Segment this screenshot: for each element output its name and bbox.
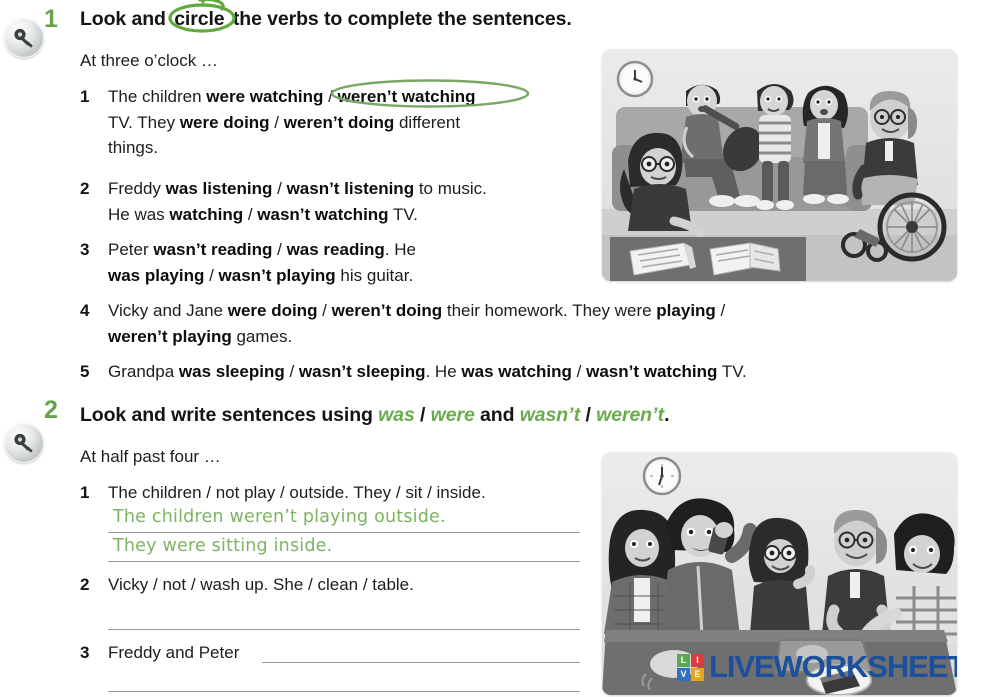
exercise-2-item-1: 1 The children / not play / outside. The…	[80, 480, 600, 506]
selected-answer-highlight: weren’t watching	[338, 84, 476, 110]
exercise-1-item-2: 2 Freddy was listening / wasn’t listenin…	[80, 176, 605, 227]
exercise-1-item-5: 5 Grandpa was sleeping / wasn’t sleeping…	[80, 359, 970, 385]
item-number: 1	[80, 480, 96, 506]
verb-option-b[interactable]: wasn’t listening	[287, 179, 415, 198]
option-separator: /	[285, 362, 299, 381]
item-text: TV.	[717, 362, 746, 381]
item-text: TV. They	[108, 113, 180, 132]
verb-option-a[interactable]: watching	[169, 205, 243, 224]
exercise-1-heading: Look and circle the verbs to complete th…	[80, 8, 572, 31]
heading-green-wasnt: wasn’t	[520, 404, 580, 426]
item-text: different	[394, 113, 460, 132]
option-separator: /	[572, 362, 586, 381]
item-text: TV.	[389, 205, 418, 224]
item-text: Grandpa	[108, 362, 179, 381]
item-text: Freddy	[108, 179, 166, 198]
verb-option-a[interactable]: was sleeping	[179, 362, 285, 381]
verb-option-a[interactable]: was listening	[166, 179, 273, 198]
circled-word-circle: circle	[171, 8, 227, 31]
verb-option-a[interactable]: wasn’t reading	[153, 240, 272, 259]
exercise-number-1: 1	[44, 7, 58, 32]
answer-rule[interactable]	[108, 691, 580, 692]
option-separator: /	[317, 301, 331, 320]
key-icon	[4, 18, 44, 58]
item-number: 3	[80, 237, 96, 263]
exercise-1-item-3: 3 Peter wasn’t reading / was reading. He…	[80, 237, 600, 288]
verb-option-d[interactable]: weren’t playing	[108, 327, 232, 346]
item-text: Peter	[108, 240, 153, 259]
badge-letter-v: V	[677, 668, 690, 681]
verb-option-c[interactable]: playing	[656, 301, 716, 320]
heading-text-pre: Look and write sentences using	[80, 404, 378, 426]
exercise-1-lead: At three o’clock …	[80, 51, 218, 71]
handwritten-answer-1a[interactable]: The children weren’t playing outside.	[113, 507, 446, 527]
option-separator: /	[323, 87, 337, 106]
heading-circled-word: circle	[174, 8, 224, 30]
heading-text-and: and	[475, 404, 520, 426]
worksheet-page: 1 Look and circle the verbs to complete …	[0, 0, 1000, 697]
answer-rule[interactable]	[262, 662, 580, 663]
verb-option-a[interactable]: were doing	[228, 301, 318, 320]
item-text: their homework. They were	[442, 301, 656, 320]
verb-option-b[interactable]: wasn’t playing	[219, 266, 336, 285]
family-living-room-scene	[602, 49, 957, 281]
verb-option-b[interactable]: wasn’t watching	[257, 205, 388, 224]
item-number: 3	[80, 640, 96, 666]
badge-letter-l: L	[677, 654, 690, 667]
answer-rule[interactable]	[108, 532, 580, 533]
verb-option-b[interactable]: wasn’t sleeping	[299, 362, 426, 381]
item-number: 2	[80, 176, 96, 202]
option-separator: /	[716, 301, 725, 320]
verb-option-a[interactable]: was playing	[108, 266, 204, 285]
verb-option-b[interactable]: weren’t doing	[332, 301, 443, 320]
heading-separator: /	[415, 404, 431, 426]
item-prompt: The children / not play / outside. They …	[108, 480, 600, 506]
exercise-1-item-4: 4 Vicky and Jane were doing / weren’t do…	[80, 298, 960, 349]
item-number: 2	[80, 572, 96, 598]
verb-option-b[interactable]: weren’t doing	[284, 113, 395, 132]
badge-letter-e: E	[691, 668, 704, 681]
badge-letter-i: I	[691, 654, 704, 667]
item-text: to music.	[414, 179, 487, 198]
family-table-scene: L I V E LIVEWORKSHEETS	[602, 452, 957, 695]
verb-option-d[interactable]: wasn’t watching	[586, 362, 717, 381]
item-number: 4	[80, 298, 96, 324]
liveworksheets-watermark: L I V E LIVEWORKSHEETS	[677, 649, 957, 685]
item-text: . He	[385, 240, 416, 259]
item-number: 1	[80, 84, 96, 110]
item-text: things.	[108, 138, 158, 157]
item-text: his guitar.	[336, 266, 414, 285]
heading-green-werent: weren’t	[596, 404, 664, 426]
verb-option-b[interactable]: was reading	[287, 240, 385, 259]
option-separator: /	[272, 240, 286, 259]
live-badge-icon: L I V E	[677, 654, 704, 681]
liveworksheets-text: LIVEWORKSHEETS	[709, 649, 957, 685]
heading-text-pre: Look and	[80, 8, 171, 30]
exercise-2-lead: At half past four …	[80, 447, 221, 467]
exercise-1-item-1: 1 The children were watching / weren’t w…	[80, 84, 600, 161]
item-number: 5	[80, 359, 96, 385]
option-separator: /	[270, 113, 284, 132]
heading-text-post: the verbs to complete the sentences.	[228, 8, 572, 30]
verb-option-a[interactable]: were watching	[206, 87, 323, 106]
verb-option-b[interactable]: weren’t watching	[338, 87, 476, 106]
item-text: games.	[232, 327, 292, 346]
handwritten-answer-1b[interactable]: They were sitting inside.	[113, 536, 332, 556]
exercise-2-heading: Look and write sentences using was / wer…	[80, 404, 669, 427]
key-icon	[4, 423, 44, 463]
exercise-2-item-2: 2 Vicky / not / wash up. She / clean / t…	[80, 572, 600, 598]
item-text: He was	[108, 205, 169, 224]
item-text: Vicky and Jane	[108, 301, 228, 320]
heading-text-end: .	[664, 404, 669, 426]
heading-green-were: were	[431, 404, 475, 426]
exercise-number-2: 2	[44, 398, 58, 423]
heading-separator: /	[580, 404, 596, 426]
answer-rule[interactable]	[108, 629, 580, 630]
option-separator: /	[243, 205, 257, 224]
verb-option-a[interactable]: were doing	[180, 113, 270, 132]
item-text: . He	[425, 362, 461, 381]
item-prompt: Vicky / not / wash up. She / clean / tab…	[108, 572, 600, 598]
item-text: The children	[108, 87, 206, 106]
option-separator: /	[204, 266, 218, 285]
verb-option-c[interactable]: was watching	[461, 362, 572, 381]
answer-rule[interactable]	[108, 561, 580, 562]
option-separator: /	[272, 179, 286, 198]
heading-green-was: was	[378, 404, 415, 426]
